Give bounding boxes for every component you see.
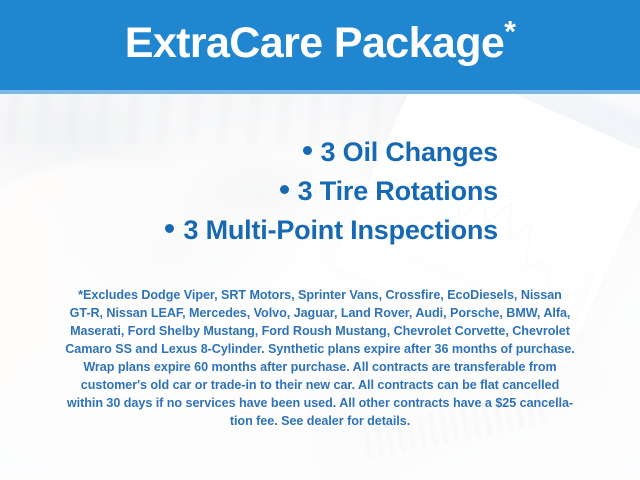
- disclaimer-text: *Excludes Dodge Viper, SRT Motors, Sprin…: [26, 286, 614, 430]
- list-item: 3 Multi-Point Inspections: [0, 211, 498, 250]
- benefits-list: 3 Oil Changes 3 Tire Rotations 3 Multi-P…: [0, 133, 640, 250]
- list-item: 3 Tire Rotations: [0, 172, 498, 211]
- page-title-text: ExtraCare Package: [125, 19, 504, 67]
- bullet-dot-icon: [280, 185, 289, 194]
- disclaimer-line: Camaro SS and Lexus 8-Cylinder. Syntheti…: [26, 340, 614, 358]
- title-asterisk: *: [504, 15, 515, 48]
- bullet-dot-icon: [303, 146, 312, 155]
- disclaimer-line: Wrap plans expire 60 months after purcha…: [26, 358, 614, 376]
- disclaimer-line: Maserati, Ford Shelby Mustang, Ford Rous…: [26, 322, 614, 340]
- list-item: 3 Oil Changes: [0, 133, 498, 172]
- disclaimer-line: tion fee. See dealer for details.: [26, 412, 614, 430]
- disclaimer-line: *Excludes Dodge Viper, SRT Motors, Sprin…: [26, 286, 614, 304]
- extracare-promo-card: ExtraCare Package* 3 Oil Changes 3 Tire …: [0, 0, 640, 480]
- benefit-label: 3 Multi-Point Inspections: [183, 215, 498, 245]
- disclaimer-line: within 30 days if no services have been …: [26, 394, 614, 412]
- header-underline-divider: [0, 90, 640, 94]
- disclaimer-line: GT-R, Nissan LEAF, Mercedes, Volvo, Jagu…: [26, 304, 614, 322]
- benefit-label: 3 Tire Rotations: [298, 176, 498, 206]
- page-title: ExtraCare Package*: [125, 22, 516, 69]
- benefit-label: 3 Oil Changes: [321, 137, 498, 167]
- header-band: ExtraCare Package*: [0, 0, 640, 90]
- bullet-dot-icon: [165, 224, 174, 233]
- disclaimer-line: customer's old car or trade-in to their …: [26, 376, 614, 394]
